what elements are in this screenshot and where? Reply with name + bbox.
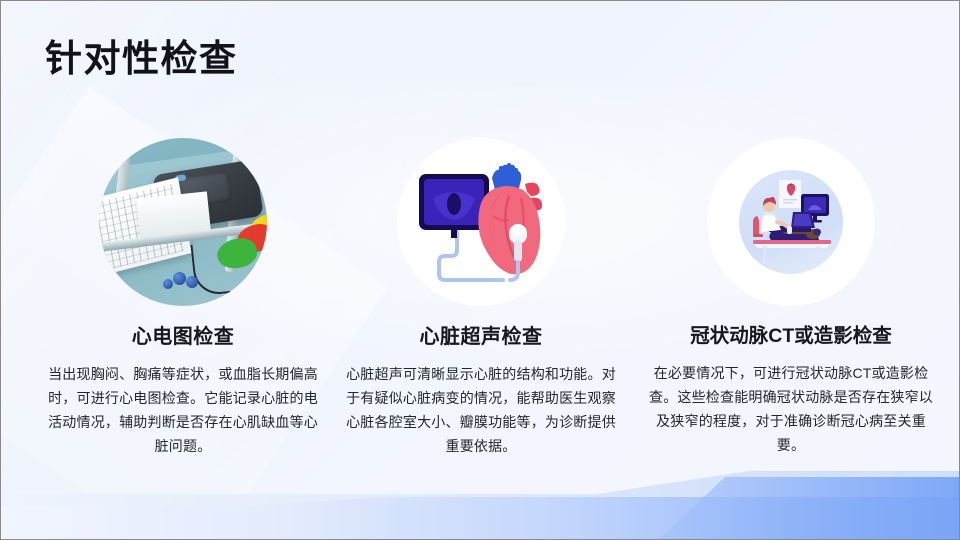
- ecg-machine-photo: [99, 138, 267, 306]
- slide-canvas: 针对性检查: [0, 0, 960, 540]
- column-ecg: 心电图检查 当出现胸闷、胸痛等症状，或血脂长期偏高时，可进行心电图检查。它能记录…: [33, 131, 333, 458]
- ecg-lead-cable: [190, 240, 248, 298]
- cardiac-ultrasound-illustration: [397, 138, 565, 306]
- ct-illustration-backdrop: [707, 138, 875, 306]
- column-body: 在必要情况下，可进行冠状动脉CT或造影检查。这些检查能明确冠状动脉是否存在狭窄以…: [646, 361, 936, 457]
- ecg-electrode-blue-3: [163, 279, 173, 289]
- column-heading: 心电图检查: [33, 324, 333, 350]
- ecg-photo-backdrop: [99, 138, 267, 306]
- ultrasound-illustration-svg: [397, 138, 565, 306]
- ecg-electrode-blue-1: [173, 272, 186, 285]
- ultrasound-illustration-backdrop: [397, 138, 565, 306]
- column-coronary-ct: 冠状动脉CT或造影检查 在必要情况下，可进行冠状动脉CT或造影检查。这些检查能明…: [641, 131, 941, 457]
- column-heading: 冠状动脉CT或造影检查: [641, 324, 941, 349]
- coronary-ct-scan-illustration: [707, 138, 875, 306]
- columns-container: 心电图检查 当出现胸闷、胸痛等症状，或血脂长期偏高时，可进行心电图检查。它能记录…: [1, 1, 960, 540]
- ecg-electrode-blue-2: [186, 276, 198, 288]
- column-body: 当出现胸闷、胸痛等症状，或血脂长期偏高时，可进行心电图检查。它能记录心脏的电活动…: [42, 362, 324, 458]
- ct-scene-svg: [739, 170, 843, 274]
- column-heading: 心脏超声检查: [331, 324, 631, 350]
- column-ultrasound: 心脏超声检查 心脏超声可清晰显示心脏的结构和功能。对于有疑似心脏病变的情况，能帮…: [331, 131, 631, 458]
- ct-illustration-inner-circle: [739, 170, 843, 274]
- column-body: 心脏超声可清晰显示心脏的结构和功能。对于有疑似心脏病变的情况，能帮助医生观察心脏…: [340, 362, 622, 458]
